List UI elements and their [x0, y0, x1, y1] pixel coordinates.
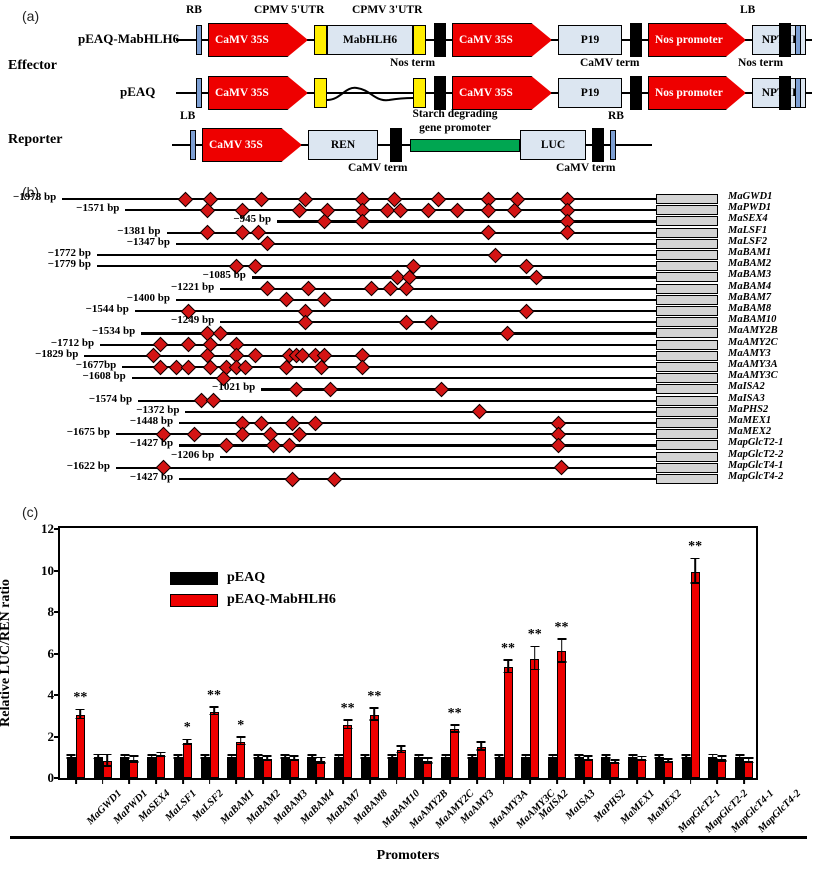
error-bar-cap	[94, 758, 103, 760]
gene-body-box	[656, 328, 718, 338]
starch-promoter-label-line2: gene promoter	[380, 122, 530, 134]
x-tick-mark	[476, 778, 478, 784]
bar-peaq[interactable]	[682, 529, 691, 778]
error-bar-cap	[316, 762, 325, 764]
error-bar-cap	[183, 739, 192, 741]
camv35s-arrow-2b: CaMV 35S	[452, 76, 552, 110]
gene-body-box	[656, 284, 718, 294]
starch-gene-promoter-bar	[410, 139, 520, 152]
camv35s-label-3: CaMV 35S	[209, 139, 263, 151]
bar-group	[383, 529, 410, 778]
gene-name-label: MaISA3	[728, 393, 765, 404]
promoter-length-label: −1534 bp	[73, 325, 135, 337]
error-bar-cap	[174, 754, 183, 756]
significance-marker: **	[528, 627, 542, 643]
bar-peaq[interactable]	[334, 529, 343, 778]
error-bar-cap	[147, 754, 156, 756]
bar-group	[410, 529, 437, 778]
camv35s-label-2b: CaMV 35S	[459, 87, 513, 99]
gene-name-label: MaLSF1	[728, 225, 767, 236]
error-bar-cap	[735, 757, 744, 759]
cis-element-diamond-icon	[317, 214, 333, 230]
error-bar-cap	[103, 754, 112, 756]
promoter-length-label: −1622 bp	[48, 460, 110, 472]
bar-fill	[370, 715, 379, 778]
legend-item-peaq: pEAQ	[170, 570, 336, 586]
bar-group	[303, 529, 330, 778]
bar-peaq[interactable]	[254, 529, 263, 778]
error-bar-cap	[129, 755, 138, 757]
error-bar-cap	[530, 646, 539, 648]
error-bar-cap	[156, 752, 165, 754]
error-bar-cap	[290, 759, 299, 761]
bar-peaq[interactable]	[94, 529, 103, 778]
y-tick-mark	[54, 736, 60, 738]
bar-peaq-mabhlh6[interactable]	[637, 529, 646, 778]
promoter-line	[179, 444, 656, 446]
error-bar-cap	[530, 669, 539, 671]
legend-swatch-peaq-mabhlh6	[170, 594, 218, 607]
bar-fill	[343, 725, 352, 778]
nos-term-bar-1b	[779, 23, 791, 57]
gene-body-box	[656, 261, 718, 271]
cis-element-diamond-icon	[528, 270, 544, 286]
x-tick-mark	[128, 778, 130, 784]
gene-name-label: MaGWD1	[728, 191, 772, 202]
promoter-line	[97, 254, 656, 256]
bar-peaq[interactable]	[361, 529, 370, 778]
error-bar-cap	[147, 757, 156, 759]
gene-body-box	[656, 396, 718, 406]
error-bar	[561, 640, 563, 663]
panel-a-constructs: (a) Effector Reporter RB CPMV 5'UTR CPMV…	[0, 0, 817, 178]
promoter-line	[220, 456, 656, 458]
promoter-length-label: −1249 bp	[152, 314, 214, 326]
error-bar-cap	[548, 754, 557, 756]
error-bar-cap	[664, 762, 673, 764]
bar-group: **	[544, 529, 571, 778]
significance-marker: **	[73, 690, 87, 706]
bar-peaq-mabhlh6[interactable]: *	[236, 529, 245, 778]
x-tick-mark	[690, 778, 692, 784]
ren-box: REN	[308, 130, 378, 160]
error-bar-cap	[307, 757, 316, 759]
error-bar-cap	[477, 741, 486, 743]
bar-peaq[interactable]	[201, 529, 210, 778]
cis-element-diamond-icon	[487, 247, 503, 263]
bar-peaq-mabhlh6[interactable]	[584, 529, 593, 778]
cis-element-diamond-icon	[247, 258, 263, 274]
error-bar-cap	[495, 754, 504, 756]
promoter-length-label: −1978 bp	[0, 191, 56, 203]
starch-promoter-label-line1: Starch degrading	[380, 108, 530, 120]
bar-fill	[628, 757, 637, 778]
bar-group	[597, 529, 624, 778]
error-bar-cap	[735, 754, 744, 756]
promoter-length-label: −1021 bp	[193, 381, 255, 393]
error-bar-cap	[575, 754, 584, 756]
cis-element-diamond-icon	[279, 292, 295, 308]
y-tick-mark	[54, 694, 60, 696]
x-tick-mark	[396, 778, 398, 784]
bar-peaq[interactable]	[548, 529, 557, 778]
cis-element-diamond-icon	[260, 236, 276, 252]
x-tick-mark	[289, 778, 291, 784]
bar-peaq-mabhlh6[interactable]	[477, 529, 486, 778]
bar-peaq-mabhlh6[interactable]	[156, 529, 165, 778]
bar-peaq[interactable]	[281, 529, 290, 778]
gene-body-box	[656, 373, 718, 383]
bar-peaq-mabhlh6[interactable]	[744, 529, 753, 778]
bar-peaq-mabhlh6[interactable]	[290, 529, 299, 778]
cpmv3utr-box-2	[413, 78, 426, 108]
error-bar	[534, 647, 536, 670]
bar-peaq[interactable]	[628, 529, 637, 778]
effector-side-label: Effector	[8, 58, 57, 74]
camv35s-arrow-3: CaMV 35S	[202, 128, 302, 162]
bar-group: **	[517, 529, 544, 778]
cis-element-diamond-icon	[235, 426, 251, 442]
significance-marker: **	[448, 706, 462, 722]
bar-peaq-mabhlh6[interactable]: **	[557, 529, 566, 778]
x-tick-mark	[342, 778, 344, 784]
bar-peaq-mabhlh6[interactable]	[664, 529, 673, 778]
x-tick-mark	[102, 778, 104, 784]
promoter-length-label: −1381 bp	[99, 225, 161, 237]
bar-peaq-mabhlh6[interactable]	[610, 529, 619, 778]
lb-border-3	[190, 130, 196, 160]
bar-fill	[495, 757, 504, 778]
y-tick-mark	[54, 653, 60, 655]
bar-peaq[interactable]	[708, 529, 717, 778]
bar-peaq-mabhlh6[interactable]: **	[343, 529, 352, 778]
cis-element-diamond-icon	[326, 471, 342, 487]
error-bar-cap	[655, 757, 664, 759]
bar-fill	[94, 757, 103, 778]
cis-element-diamond-icon	[399, 281, 415, 297]
nos-term-bar-1	[434, 23, 446, 57]
bar-peaq-mabhlh6[interactable]	[103, 529, 112, 778]
gene-body-box	[656, 452, 718, 462]
cis-element-diamond-icon	[424, 314, 440, 330]
legend-label-peaq: pEAQ	[227, 570, 265, 586]
error-bar-cap	[521, 754, 530, 756]
bar-group: **	[357, 529, 384, 778]
cpmv3utr-label: CPMV 3'UTR	[352, 4, 422, 16]
cis-element-diamond-icon	[472, 404, 488, 420]
gene-body-box	[656, 474, 718, 484]
x-tick-mark	[743, 778, 745, 784]
gene-name-label: MaMEX2	[728, 426, 771, 437]
bar-peaq-mabhlh6[interactable]	[397, 529, 406, 778]
y-tick-mark	[54, 611, 60, 613]
error-bar-cap	[744, 757, 753, 759]
cis-element-diamond-icon	[519, 303, 535, 319]
error-bar-cap	[477, 749, 486, 751]
promoter-length-label: −1772 bp	[29, 247, 91, 259]
error-bar-cap	[120, 754, 129, 756]
error-bar-cap	[76, 718, 85, 720]
bar-group	[143, 529, 170, 778]
bar-fill	[388, 757, 397, 778]
error-bar-cap	[450, 724, 459, 726]
bar-peaq-mabhlh6[interactable]: **	[691, 529, 700, 778]
cis-element-diamond-icon	[301, 281, 317, 297]
bar-peaq-mabhlh6[interactable]: **	[504, 529, 513, 778]
promoter-line	[176, 299, 656, 301]
error-bar-cap	[468, 757, 477, 759]
gene-name-label: MaAMY3	[728, 348, 771, 359]
bar-fill	[468, 757, 477, 778]
bar-peaq[interactable]	[227, 529, 236, 778]
cis-element-diamond-icon	[200, 225, 216, 241]
x-tick-mark	[556, 778, 558, 784]
cpmv5utr-box-2	[314, 78, 327, 108]
error-bar-cap	[504, 659, 513, 661]
error-bar-cap	[67, 757, 76, 759]
lb-border-2	[795, 78, 801, 108]
p19-box-1: P19	[558, 25, 622, 55]
bar-peaq-mabhlh6[interactable]	[316, 529, 325, 778]
error-bar-cap	[637, 756, 646, 758]
promoter-length-label: −1712 bp	[32, 337, 94, 349]
nos-term-label-1: Nos term	[390, 57, 435, 69]
nos-term-bar-2b	[779, 76, 791, 110]
bar-group: **	[437, 529, 464, 778]
error-bar-cap	[129, 761, 138, 763]
cis-element-diamond-icon	[307, 415, 323, 431]
bar-fill	[210, 712, 219, 778]
error-bar-cap	[423, 757, 432, 759]
bar-fill	[120, 757, 129, 778]
bar-fill	[361, 757, 370, 778]
error-bar-cap	[610, 759, 619, 761]
x-tick-mark	[610, 778, 612, 784]
error-bar-cap	[504, 672, 513, 674]
bar-peaq-mabhlh6[interactable]: **	[370, 529, 379, 778]
error-bar-cap	[717, 760, 726, 762]
bar-peaq[interactable]	[735, 529, 744, 778]
error-bar-cap	[316, 757, 325, 759]
cis-element-diamond-icon	[364, 281, 380, 297]
bar-group	[116, 529, 143, 778]
x-tick-mark	[182, 778, 184, 784]
bar-peaq[interactable]	[414, 529, 423, 778]
bar-peaq-mabhlh6[interactable]: **	[76, 529, 85, 778]
bar-peaq[interactable]	[655, 529, 664, 778]
bar-fill	[227, 757, 236, 778]
bar-fill	[637, 759, 646, 778]
cis-element-diamond-icon	[430, 191, 446, 207]
camv35s-label-1a: CaMV 35S	[215, 34, 269, 46]
significance-marker: **	[688, 539, 702, 555]
x-tick-mark	[636, 778, 638, 784]
error-bar-cap	[201, 754, 210, 756]
bar-group	[250, 529, 277, 778]
bar-group: **	[677, 529, 704, 778]
cis-element-diamond-icon	[254, 415, 270, 431]
cpmv5utr-box-1	[314, 25, 327, 55]
cis-element-diamond-icon	[238, 359, 254, 375]
bar-group	[89, 529, 116, 778]
gene-body-box	[656, 362, 718, 372]
error-bar-cap	[468, 754, 477, 756]
error-bar-cap	[691, 558, 700, 560]
error-bar-cap	[388, 757, 397, 759]
bar-peaq-mabhlh6[interactable]: **	[530, 529, 539, 778]
bar-peaq-mabhlh6[interactable]: **	[210, 529, 219, 778]
camv35s-label-1b: CaMV 35S	[459, 34, 513, 46]
bar-peaq-mabhlh6[interactable]	[129, 529, 138, 778]
error-bar-cap	[414, 754, 423, 756]
cis-element-diamond-icon	[434, 382, 450, 398]
cis-element-diamond-icon	[254, 191, 270, 207]
bar-peaq[interactable]	[441, 529, 450, 778]
cis-element-diamond-icon	[206, 393, 222, 409]
bar-fill	[76, 715, 85, 778]
gene-name-label: MaLSF2	[728, 236, 767, 247]
error-bar-cap	[263, 759, 272, 761]
cis-element-diamond-icon	[181, 337, 197, 353]
nos-promoter-arrow-2: Nos promoter	[648, 76, 746, 110]
error-bar-cap	[103, 765, 112, 767]
bar-group	[651, 529, 678, 778]
chart-legend: pEAQ pEAQ-MabHLH6	[170, 570, 336, 614]
bar-group: **	[490, 529, 517, 778]
error-bar-cap	[281, 757, 290, 759]
camv35s-arrow-2a: CaMV 35S	[208, 76, 308, 110]
gene-body-box	[656, 306, 718, 316]
bar-fill	[557, 651, 566, 778]
construct-name-effector1: pEAQ-MabHLH6	[78, 31, 179, 47]
bar-fill	[281, 757, 290, 778]
bar-peaq-mabhlh6[interactable]: *	[183, 529, 192, 778]
x-tick-mark	[369, 778, 371, 784]
cis-element-diamond-icon	[355, 214, 371, 230]
promoter-length-label: −1427 bp	[111, 471, 173, 483]
error-bar-cap	[236, 744, 245, 746]
bar-peaq-mabhlh6[interactable]	[263, 529, 272, 778]
gene-body-box	[656, 228, 718, 238]
bar-group: **	[330, 529, 357, 778]
error-bar-cap	[94, 754, 103, 756]
bar-fill	[263, 759, 272, 778]
error-bar-cap	[441, 757, 450, 759]
bar-fill	[504, 667, 513, 778]
error-bar-cap	[557, 638, 566, 640]
bar-group	[570, 529, 597, 778]
camv-term-label-1: CaMV term	[580, 57, 640, 69]
x-axis-label: Promoters	[377, 848, 440, 864]
gene-body-box	[656, 317, 718, 327]
bar-peaq[interactable]	[521, 529, 530, 778]
gene-body-box	[656, 407, 718, 417]
camv-term-bar-1	[630, 23, 642, 57]
bar-peaq[interactable]	[147, 529, 156, 778]
error-bar-cap	[717, 755, 726, 757]
error-bar-cap	[334, 754, 343, 756]
gene-body-box	[656, 272, 718, 282]
bar-peaq[interactable]	[307, 529, 316, 778]
legend-swatch-peaq	[170, 572, 218, 585]
cpmv5utr-label: CPMV 5'UTR	[254, 4, 324, 16]
x-tick-mark	[503, 778, 505, 784]
significance-marker: **	[501, 641, 515, 657]
error-bar-cap	[397, 745, 406, 747]
cis-element-diamond-icon	[298, 314, 314, 330]
bar-fill	[307, 757, 316, 778]
error-bar-cap	[388, 754, 397, 756]
bar-peaq-mabhlh6[interactable]	[717, 529, 726, 778]
error-bar-cap	[201, 757, 210, 759]
error-bar-cap	[263, 755, 272, 757]
promoter-length-label: −945 bp	[209, 213, 271, 225]
error-bar-cap	[495, 757, 504, 759]
bar-peaq[interactable]	[468, 529, 477, 778]
bar-fill	[708, 757, 717, 778]
bar-fill	[610, 762, 619, 778]
gene-body-box	[656, 429, 718, 439]
y-axis-label: Relative LUC/REN ratio	[0, 579, 14, 727]
bar-peaq[interactable]	[67, 529, 76, 778]
gene-body-box	[656, 384, 718, 394]
bar-peaq[interactable]	[174, 529, 183, 778]
promoter-length-label: −1574 bp	[70, 393, 132, 405]
bar-peaq[interactable]	[388, 529, 397, 778]
nos-term-bar-2	[434, 76, 446, 110]
panel-c-luciferase-chart: (c) Relative LUC/REN ratio 024681012 ***…	[0, 496, 817, 876]
lb-label-top: LB	[740, 4, 755, 16]
gene-body-box	[656, 250, 718, 260]
bar-peaq[interactable]	[120, 529, 129, 778]
gene-name-label: MaBAM7	[728, 292, 771, 303]
bar-group: **	[196, 529, 223, 778]
error-bar-cap	[370, 719, 379, 721]
cis-element-diamond-icon	[323, 382, 339, 398]
bar-peaq[interactable]	[575, 529, 584, 778]
gene-body-box	[656, 418, 718, 428]
gene-name-label: MaAMY2C	[728, 337, 778, 348]
intron-squiggle	[327, 78, 413, 108]
gene-name-label: MapGlcT2-1	[728, 437, 783, 448]
gene-name-label: MaMEX1	[728, 415, 771, 426]
significance-marker: **	[555, 620, 569, 636]
promoter-line	[252, 276, 656, 278]
cis-element-diamond-icon	[481, 225, 497, 241]
gene-body-box	[656, 340, 718, 350]
bar-peaq-mabhlh6[interactable]	[423, 529, 432, 778]
gene-body-box	[656, 216, 718, 226]
error-bar-cap	[361, 757, 370, 759]
gene-name-label: MaPWD1	[728, 202, 771, 213]
rb-border-3	[610, 130, 616, 160]
cis-element-diamond-icon	[235, 225, 251, 241]
error-bar-cap	[67, 754, 76, 756]
error-bar-cap	[76, 709, 85, 711]
bar-peaq-mabhlh6[interactable]: **	[450, 529, 459, 778]
bar-fill	[334, 757, 343, 778]
bar-peaq[interactable]	[601, 529, 610, 778]
rb-border-1	[196, 25, 202, 55]
bar-fill	[548, 757, 557, 778]
nos-term-label-1b: Nos term	[738, 57, 783, 69]
error-bar-cap	[227, 754, 236, 756]
error-bar-cap	[423, 762, 432, 764]
bar-fill	[691, 572, 700, 778]
nos-promoter-label-1: Nos promoter	[655, 34, 723, 46]
camv35s-arrow-1b: CaMV 35S	[452, 23, 552, 57]
bar-fill	[601, 757, 610, 778]
